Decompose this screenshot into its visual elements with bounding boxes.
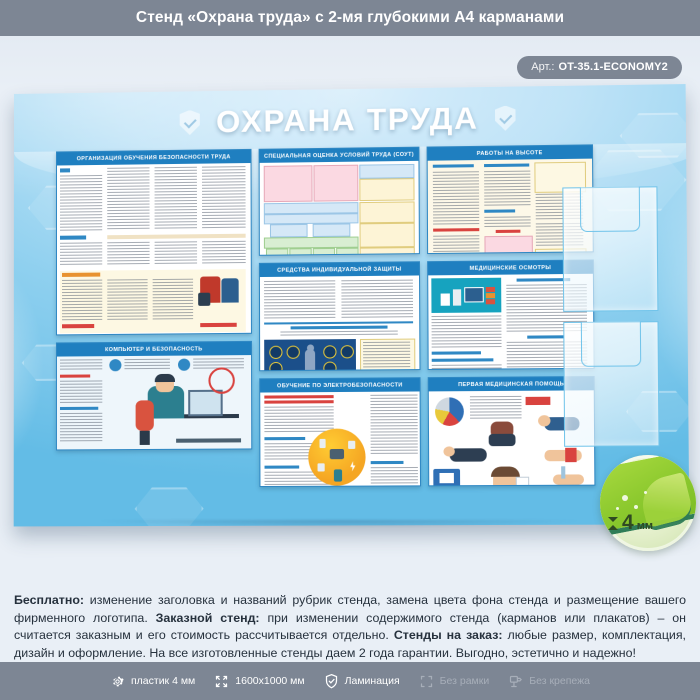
poster-content — [57, 355, 251, 449]
poster-organizaciya-obucheniya[interactable]: ОРГАНИЗАЦИЯ ОБУЧЕНИЯ БЕЗОПАСНОСТИ ТРУДА — [56, 149, 252, 336]
thickness-value: 4 — [622, 511, 634, 535]
pocket-a4-top[interactable] — [562, 186, 658, 311]
pocket-notch — [580, 187, 640, 233]
gear-icon — [110, 674, 125, 689]
poster-content — [57, 163, 251, 334]
spec-size: 1600x1000 мм — [214, 674, 304, 689]
poster-siz[interactable]: СРЕДСТВА ИНДИВИДУАЛЬНОЙ ЗАЩИТЫ — [259, 261, 421, 371]
board-shadow — [14, 520, 664, 530]
poster-title: ОБУЧЕНИЕ ПО ЭЛЕКТРОБЕЗОПАСНОСТИ — [260, 378, 419, 392]
poster-content — [260, 391, 420, 486]
spec-frame-label: Без рамки — [440, 675, 490, 687]
shield-check-icon — [495, 105, 516, 131]
poster-elektrobezopasnost[interactable]: ОБУЧЕНИЕ ПО ЭЛЕКТРОБЕЗОПАСНОСТИ — [259, 377, 421, 487]
pocket-a4-bottom[interactable] — [563, 321, 659, 447]
spec-size-label: 1600x1000 мм — [235, 675, 304, 687]
stand-board: ОХРАНА ТРУДА ОРГАНИЗАЦИЯ ОБУЧЕНИЯ БЕЗОПА… — [14, 84, 690, 526]
poster-content — [260, 275, 420, 370]
bubble — [634, 505, 638, 509]
description-emphasis: Стенды на заказ: — [394, 628, 503, 642]
shield-icon — [324, 673, 339, 690]
poster-content — [260, 161, 419, 255]
bubble — [644, 491, 647, 494]
spec-footer-bar: пластик 4 мм 1600x1000 мм Ламинация — [0, 662, 700, 700]
article-value: OT-35.1-ECONOMY2 — [558, 61, 668, 73]
shield-check-icon — [180, 110, 200, 135]
resize-icon — [214, 674, 229, 689]
description-emphasis: Заказной стенд: — [156, 611, 260, 625]
product-description: Бесплатно: изменение заголовка и названи… — [14, 592, 686, 662]
poster-sout[interactable]: СПЕЦИАЛЬНАЯ ОЦЕНКА УСЛОВИЙ ТРУДА (СОУТ) — [259, 147, 420, 256]
description-emphasis: Бесплатно: — [14, 593, 84, 607]
article-label: Арт.: — [531, 61, 554, 73]
spec-mount: Без крепежа — [508, 674, 590, 689]
thickness-badge: 4 мм — [600, 455, 696, 551]
page-title: Стенд «Охрана труда» с 2-мя глубокими А4… — [136, 9, 564, 27]
article-badge: Арт.: OT-35.1-ECONOMY2 — [517, 56, 682, 79]
poster-grid: ОРГАНИЗАЦИЯ ОБУЧЕНИЯ БЕЗОПАСНОСТИ ТРУДА — [56, 144, 613, 504]
thickness-unit: мм — [637, 520, 653, 532]
spec-material: пластик 4 мм — [110, 674, 195, 689]
spec-lamination: Ламинация — [324, 673, 400, 690]
page-header-bar: Стенд «Охрана труда» с 2-мя глубокими А4… — [0, 0, 700, 36]
spec-lamination-label: Ламинация — [345, 675, 400, 687]
frame-icon — [419, 674, 434, 689]
product-page: Стенд «Охрана труда» с 2-мя глубокими А4… — [0, 0, 700, 700]
poster-kompyuter-bezopasnost[interactable]: КОМПЬЮТЕР И БЕЗОПАСНОСТЬ — [56, 341, 252, 451]
spec-material-label: пластик 4 мм — [131, 675, 195, 687]
spec-mount-label: Без крепежа — [529, 675, 590, 687]
thickness-arrows-icon — [608, 517, 618, 530]
stand-preview: ОХРАНА ТРУДА ОРГАНИЗАЦИЯ ОБУЧЕНИЯ БЕЗОПА… — [10, 92, 690, 547]
mount-icon — [508, 674, 523, 689]
spec-frame: Без рамки — [419, 674, 490, 689]
stand-heading: ОХРАНА ТРУДА — [14, 90, 686, 150]
stand-title: ОХРАНА ТРУДА — [216, 100, 479, 140]
thickness-value-group: 4 мм — [608, 511, 653, 535]
pocket-notch — [581, 321, 641, 367]
bubble — [616, 507, 619, 510]
bubble — [622, 495, 628, 501]
